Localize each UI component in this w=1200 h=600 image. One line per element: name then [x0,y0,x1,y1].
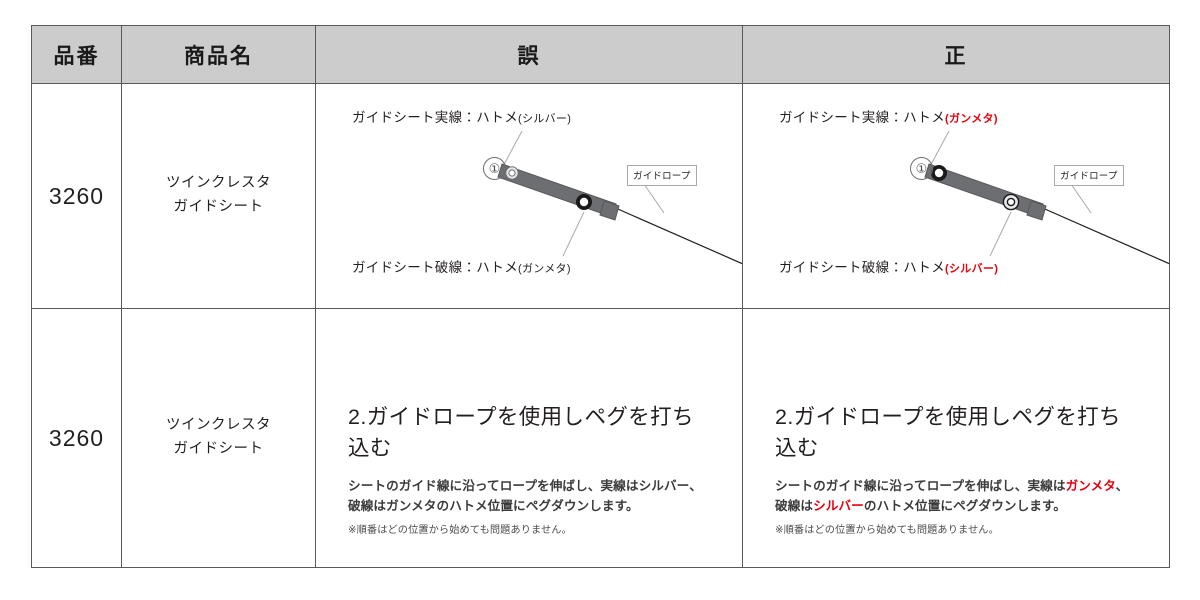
caption-solid-value: ガンメタ [949,113,994,125]
grommet-top-gunmetal-hole [935,169,943,177]
instruction-note: ※順番はどの位置から始めても問題ありません。 [348,523,712,538]
caption-solid-paren-close: ) [994,113,998,125]
grommet-top-silver-hole [509,170,515,176]
caption-dashed-text: ガイドシート破線：ハトメ [779,260,945,275]
instruction-body: シートのガイド線に沿ってロープを伸ばし、実線はガンメタ、破線はシルバーのハトメ位… [775,476,1139,517]
column-header-wrong: 誤 [316,26,743,84]
guide-rope [611,206,742,264]
guide-rope [1038,206,1169,264]
body-value-solid: シルバー [639,479,690,493]
leader-line-rope [644,184,664,213]
step-number-badge: ① [910,157,933,180]
right-figure-cell: ① ガイドシート実線：ハトメ(ガンメタ) ガイドシート破線：ハトメ(シルバー) … [743,84,1170,309]
caption-dashed-value: ガンメタ [522,263,567,275]
right-instruction-block: 2.ガイドロープを使用しペグを打ち込む シートのガイド線に沿ってロープを伸ばし、… [743,338,1169,538]
wrong-diagram: ① ガイドシート実線：ハトメ(シルバー) ガイドシート破線：ハトメ(ガンメタ) … [316,84,742,308]
leader-line-bottom [990,212,1011,256]
guide-rope-label: ガイドロープ [627,165,697,186]
product-name-line1: ツインクレスタ [166,175,271,191]
product-name-cell: ツインクレスタ ガイドシート [122,309,316,568]
caption-solid-paren-close: ) [567,113,571,125]
table-row: 3260 ツインクレスタ ガイドシート 2.ガイドロープを使用しペグを打ち込む … [32,309,1170,568]
caption-solid-line-wrong: ガイドシート実線：ハトメ(シルバー) [352,106,571,126]
body-segment-1: シートのガイド線に沿ってロープを伸ばし、実線は [348,479,639,493]
body-value-solid: ガンメタ [1066,479,1116,493]
grommet-bottom-gunmetal-hole [580,198,588,206]
instruction-title: 2.ガイドロープを使用しペグを打ち込む [348,400,712,462]
instruction-note: ※順番はどの位置から始めても問題ありません。 [775,523,1139,538]
body-value-dashed: ガンメタ [386,499,436,513]
caption-solid-text: ガイドシート実線：ハトメ [779,110,945,125]
product-code-cell: 3260 [32,309,122,568]
column-header-name: 商品名 [122,26,316,84]
caption-dashed-paren-close: ) [567,263,571,275]
caption-solid-line-right: ガイドシート実線：ハトメ(ガンメタ) [779,106,998,126]
right-diagram: ① ガイドシート実線：ハトメ(ガンメタ) ガイドシート破線：ハトメ(シルバー) … [743,84,1169,308]
caption-dashed-value: シルバー [949,263,994,275]
caption-solid-text: ガイドシート実線：ハトメ [352,110,518,125]
body-value-dashed: シルバー [813,499,864,513]
wrong-figure-cell: ① ガイドシート実線：ハトメ(シルバー) ガイドシート破線：ハトメ(ガンメタ) … [316,84,743,309]
leader-line-rope [1071,184,1091,213]
caption-solid-value: シルバー [522,113,567,125]
body-segment-2: 、 [1116,479,1129,493]
table-header-row: 品番 商品名 誤 正 [32,26,1170,84]
caption-dashed-line-right: ガイドシート破線：ハトメ(シルバー) [779,256,998,276]
wrong-instruction-cell: 2.ガイドロープを使用しペグを打ち込む シートのガイド線に沿ってロープを伸ばし、… [316,309,743,568]
product-name-line2: ガイドシート [174,441,264,457]
right-instruction-cell: 2.ガイドロープを使用しペグを打ち込む シートのガイド線に沿ってロープを伸ばし、… [743,309,1170,568]
errata-table: 品番 商品名 誤 正 3260 ツインクレスタ ガイドシート [31,25,1170,568]
body-segment-4: のハトメ位置にペグダウンします。 [437,499,639,513]
body-segment-3: 破線は [348,499,386,513]
table-row: 3260 ツインクレスタ ガイドシート [32,84,1170,309]
product-code-cell: 3260 [32,84,122,309]
body-segment-1: シートのガイド線に沿ってロープを伸ばし、実線は [775,479,1066,493]
wrong-instruction-block: 2.ガイドロープを使用しペグを打ち込む シートのガイド線に沿ってロープを伸ばし、… [316,338,742,538]
product-name-line1: ツインクレスタ [166,417,271,433]
column-header-code: 品番 [32,26,122,84]
instruction-title: 2.ガイドロープを使用しペグを打ち込む [775,400,1139,462]
column-header-right: 正 [743,26,1170,84]
errata-page: 品番 商品名 誤 正 3260 ツインクレスタ ガイドシート [0,0,1200,600]
product-name-cell: ツインクレスタ ガイドシート [122,84,316,309]
caption-dashed-text: ガイドシート破線：ハトメ [352,260,518,275]
body-segment-3: 破線は [775,499,813,513]
caption-dashed-paren-close: ) [994,263,998,275]
grommet-bottom-silver-hole [1007,198,1014,205]
guide-rope-label: ガイドロープ [1054,165,1124,186]
body-segment-2: 、 [689,479,702,493]
caption-dashed-line-wrong: ガイドシート破線：ハトメ(ガンメタ) [352,256,571,276]
body-segment-4: のハトメ位置にペグダウンします。 [864,499,1066,513]
step-number-badge: ① [483,157,506,180]
product-name-line2: ガイドシート [174,199,264,215]
leader-line-bottom [563,212,584,256]
instruction-body: シートのガイド線に沿ってロープを伸ばし、実線はシルバー、破線はガンメタのハトメ位… [348,476,712,517]
